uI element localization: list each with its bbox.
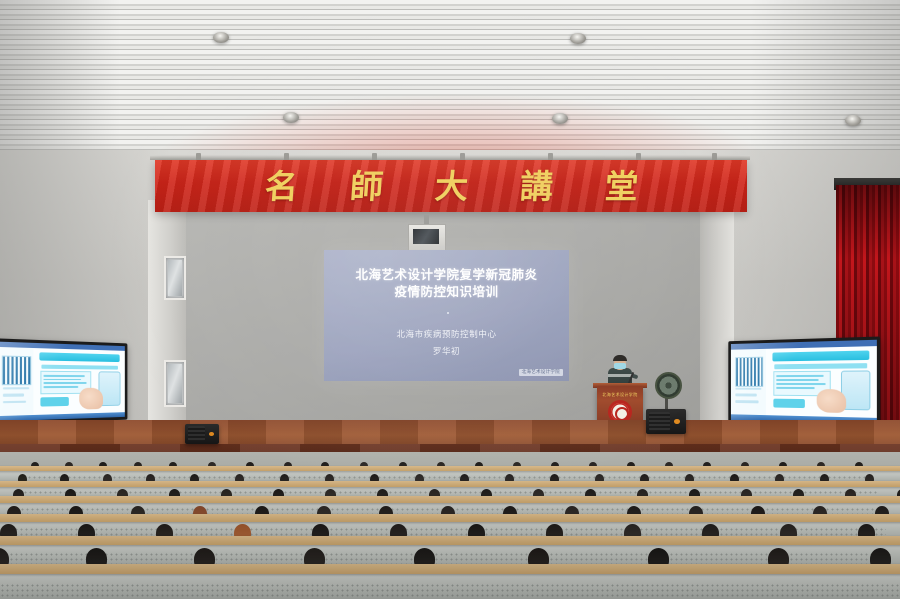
ceiling-projector bbox=[408, 224, 446, 252]
instruction-line bbox=[44, 378, 81, 380]
hand-illustration bbox=[817, 389, 846, 413]
qr-sidebar bbox=[0, 347, 35, 416]
desk-row-back bbox=[0, 466, 900, 471]
desk-row-2 bbox=[0, 536, 900, 545]
stage-speaker-left bbox=[185, 424, 219, 444]
qr-sidebar bbox=[731, 348, 767, 415]
callout-arrow bbox=[41, 397, 70, 407]
instruction-line bbox=[776, 379, 818, 381]
qr-code-icon bbox=[735, 357, 763, 388]
instruction-line bbox=[776, 375, 823, 377]
standing-fan-icon bbox=[655, 372, 682, 399]
ceiling-shadow-left bbox=[0, 0, 120, 160]
instruction-line bbox=[776, 383, 825, 385]
desk-row-5 bbox=[0, 481, 900, 487]
ceiling-downlight bbox=[552, 113, 568, 124]
face-mask-icon bbox=[614, 363, 626, 369]
slide-watermark: 北海艺术设计学院 bbox=[519, 369, 563, 376]
qr-code-icon bbox=[2, 356, 32, 386]
school-crest-icon bbox=[611, 403, 629, 421]
slide-title-line2: 疫情防控知识培训 bbox=[324, 283, 569, 300]
seat-row-front bbox=[0, 572, 900, 599]
instruction-line bbox=[776, 387, 815, 389]
slide-title-line1: 北海艺术设计学院复学新冠肺炎 bbox=[324, 266, 569, 283]
slatted-metal-ceiling bbox=[0, 0, 900, 160]
tv-right-screen bbox=[731, 340, 877, 425]
banner-char: 師 bbox=[348, 170, 383, 203]
page-header-banner bbox=[772, 350, 870, 361]
sidebar-line bbox=[736, 387, 761, 390]
sidebar-line bbox=[3, 400, 27, 403]
ceiling-shadow-right bbox=[750, 0, 900, 160]
banner-char: 名 bbox=[263, 170, 298, 203]
ceiling-downlight bbox=[845, 115, 861, 126]
instruction-line bbox=[44, 375, 85, 377]
banner-char: 講 bbox=[518, 170, 553, 203]
lecture-hall-photo: 名 師 大 講 堂 北海艺术设计学院复学新冠肺炎 疫情防控知识培训 北海市疾病预… bbox=[0, 0, 900, 599]
instruction-line bbox=[44, 382, 87, 384]
page-content bbox=[34, 348, 125, 414]
presenter-shirt-stripe bbox=[608, 374, 632, 377]
stage-speaker-right bbox=[646, 409, 686, 434]
hand-illustration bbox=[79, 388, 102, 410]
wall-vent-lower bbox=[164, 360, 186, 407]
instruction-line bbox=[44, 386, 78, 388]
slide-presenter: 罗华初 bbox=[324, 345, 569, 357]
desk-row-3 bbox=[0, 514, 900, 522]
ceiling-downlight bbox=[213, 32, 229, 43]
presenter-hair bbox=[613, 355, 627, 361]
projection-screen: 北海艺术设计学院复学新冠肺炎 疫情防控知识培训 北海市疾病预防控制中心 罗华初 … bbox=[324, 250, 569, 381]
ceiling-downlight bbox=[283, 112, 299, 123]
page-subtitle-bar bbox=[42, 364, 119, 369]
ceiling-banner: 名 師 大 講 堂 bbox=[155, 160, 747, 212]
podium-sign-text: 北海艺术设计学院 bbox=[597, 392, 643, 397]
slide-organization: 北海市疾病预防控制中心 bbox=[324, 328, 569, 340]
banner-text: 名 師 大 講 堂 bbox=[155, 160, 747, 212]
sidebar-line bbox=[3, 394, 25, 397]
page-subtitle-bar bbox=[774, 363, 867, 369]
speaker-grill bbox=[188, 426, 206, 441]
page-content bbox=[766, 346, 877, 419]
wall-vent-upper bbox=[164, 256, 186, 300]
slide-bullet-dot bbox=[447, 312, 449, 314]
banner-char: 大 bbox=[433, 170, 468, 203]
ceiling-downlight bbox=[570, 33, 586, 44]
sidebar-line bbox=[736, 394, 757, 397]
desk-row-4 bbox=[0, 496, 900, 503]
callout-arrow bbox=[773, 398, 805, 408]
banner-char: 堂 bbox=[603, 170, 638, 203]
wall-tv-left bbox=[0, 338, 127, 424]
sidebar-line bbox=[3, 387, 29, 390]
speaker-grill bbox=[649, 412, 670, 431]
wall-tv-right bbox=[728, 336, 880, 427]
page-header-banner bbox=[40, 352, 120, 362]
slide-title: 北海艺术设计学院复学新冠肺炎 疫情防控知识培训 bbox=[324, 266, 569, 300]
tv-left-screen bbox=[0, 342, 125, 422]
sidebar-line bbox=[736, 400, 759, 403]
desk-row-front bbox=[0, 564, 900, 574]
